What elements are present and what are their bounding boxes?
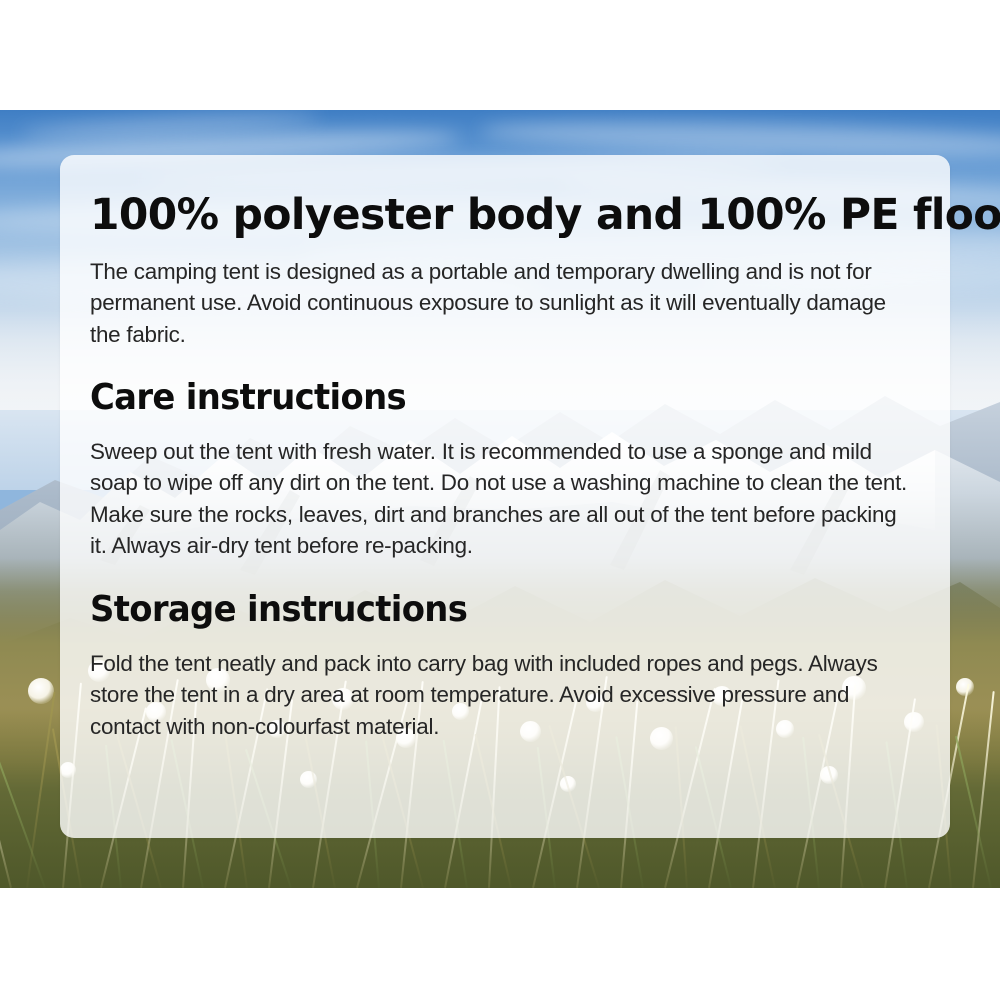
- info-card: 100% polyester body and 100% PE floor Th…: [60, 155, 950, 838]
- care-instructions-heading: Care instructions: [90, 379, 865, 418]
- cotton-grass-puff: [28, 678, 54, 704]
- page-root: 100% polyester body and 100% PE floor Th…: [0, 0, 1000, 1000]
- page-title: 100% polyester body and 100% PE floor: [90, 193, 902, 239]
- storage-instructions-heading: Storage instructions: [90, 591, 865, 630]
- storage-instructions-paragraph: Fold the tent neatly and pack into carry…: [90, 648, 914, 743]
- care-instructions-paragraph: Sweep out the tent with fresh water. It …: [90, 436, 914, 562]
- intro-paragraph: The camping tent is designed as a portab…: [90, 256, 914, 351]
